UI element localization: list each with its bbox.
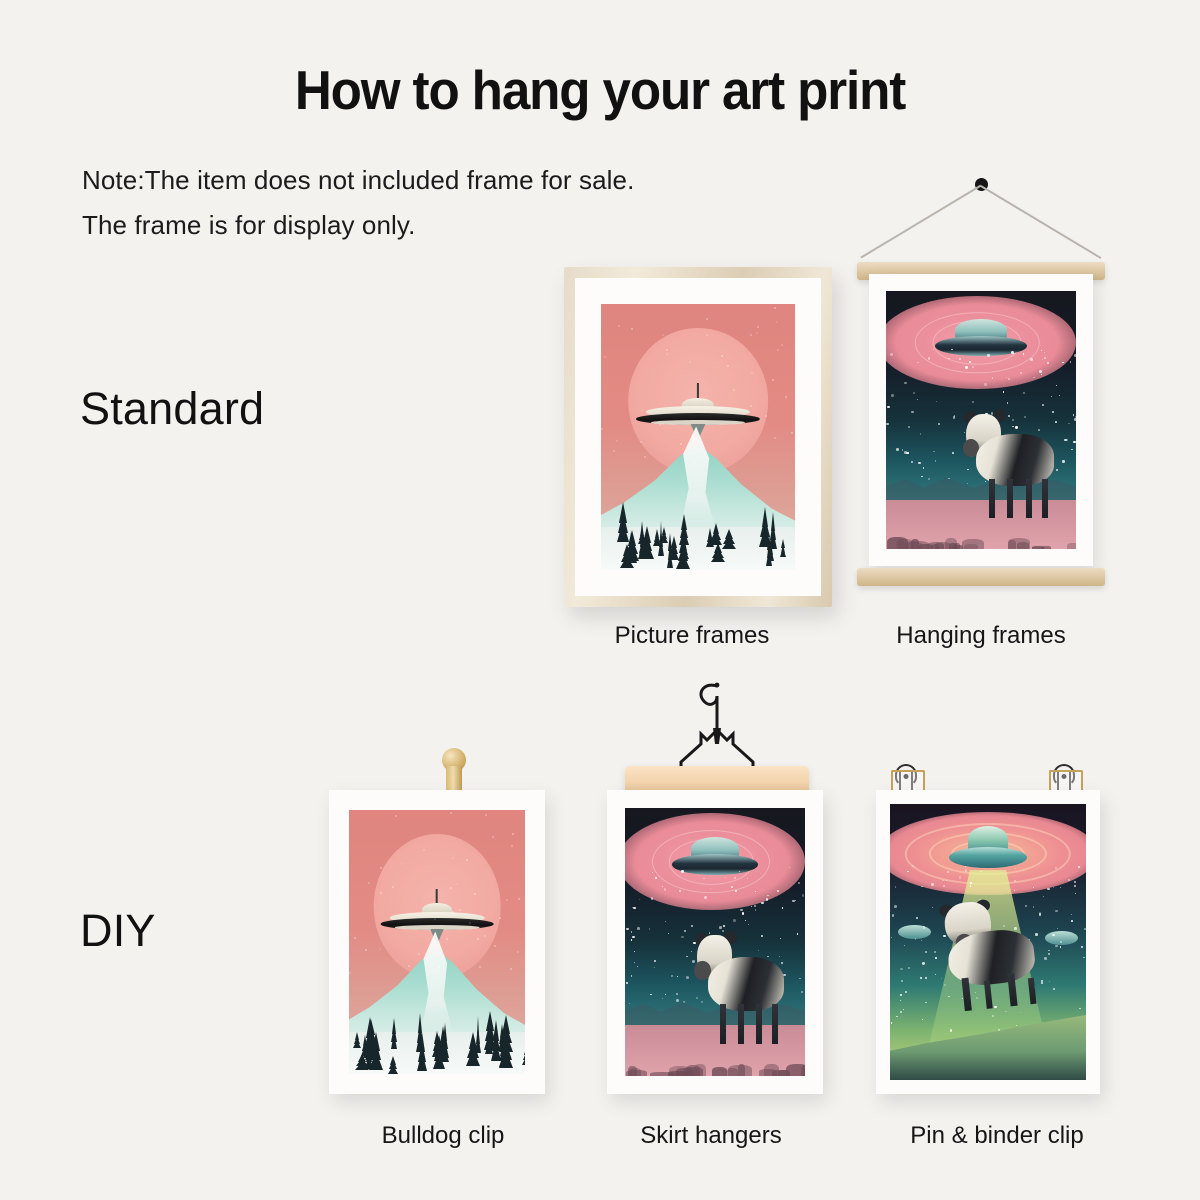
cow-leg [720, 1004, 726, 1044]
star [755, 909, 757, 911]
ground-rock [918, 544, 933, 549]
sky-speck [781, 344, 783, 346]
star [921, 476, 923, 478]
ground-rock [1032, 546, 1044, 549]
star [1074, 881, 1076, 883]
star [631, 939, 633, 941]
sky-speck [506, 899, 508, 901]
star [903, 1009, 904, 1010]
star [665, 921, 666, 922]
hanging-cord-left [861, 185, 982, 258]
skirt-hanger-icon[interactable] [625, 678, 809, 796]
ufo-saucer-icon [381, 900, 494, 940]
star [901, 980, 904, 983]
cow-leg [772, 1004, 778, 1044]
sky-speck [785, 396, 787, 398]
star [1055, 867, 1057, 869]
sky-speck [774, 307, 776, 309]
poster-sheet [869, 274, 1093, 566]
cow-leg [1026, 479, 1032, 518]
hanging-frame-mount[interactable] [855, 178, 1107, 586]
ground-rock [1008, 540, 1016, 550]
star [946, 880, 947, 881]
star [1005, 1011, 1007, 1013]
star [651, 897, 654, 900]
sky-speck [765, 415, 767, 417]
star [671, 975, 673, 977]
star [992, 377, 994, 379]
caption-pin-binder-clip: Pin & binder clip [910, 1122, 1083, 1150]
star [1048, 950, 1050, 952]
star [892, 914, 894, 916]
star [896, 448, 899, 451]
star [970, 885, 971, 886]
page-title: How to hang your art print [42, 62, 1158, 120]
sky-speck [512, 833, 514, 835]
star [900, 1000, 901, 1001]
star [1053, 988, 1055, 990]
star [936, 401, 937, 402]
star [916, 917, 918, 919]
star [782, 907, 784, 909]
star [735, 890, 737, 892]
star [935, 974, 936, 975]
star [665, 994, 666, 995]
star [703, 878, 705, 880]
star [747, 878, 748, 879]
section-label-standard: Standard [80, 383, 264, 435]
artwork-ufo-mountain-1 [601, 304, 795, 570]
star [1006, 377, 1007, 378]
star [887, 406, 889, 408]
star [921, 940, 922, 941]
star [907, 871, 908, 872]
star [987, 354, 989, 356]
sky-speck [349, 972, 351, 974]
star [959, 876, 962, 879]
star [902, 449, 904, 451]
sky-speck [474, 893, 476, 895]
clip-neck [446, 766, 462, 792]
star [948, 358, 950, 360]
star [634, 951, 635, 952]
star [1055, 945, 1057, 947]
star [626, 982, 628, 984]
star [1053, 887, 1054, 888]
star [1056, 385, 1057, 386]
ufo-saucer-icon [636, 394, 760, 434]
star [925, 1002, 927, 1004]
star [900, 994, 902, 996]
star [1079, 1008, 1081, 1010]
disclaimer-note: Note:The item does not included frame fo… [82, 158, 634, 247]
star [1073, 414, 1074, 415]
star [740, 909, 742, 911]
cow-leg [1042, 479, 1048, 518]
star [1033, 887, 1034, 888]
star [676, 993, 678, 995]
star [1068, 423, 1069, 424]
pine-tree [387, 1056, 398, 1074]
star [676, 999, 679, 1002]
star [639, 899, 640, 900]
star [632, 936, 634, 938]
star [686, 976, 689, 979]
ground-rock [728, 1065, 752, 1076]
star [1039, 370, 1042, 373]
star [634, 962, 635, 963]
star [935, 460, 936, 461]
sky-speck [517, 951, 519, 953]
star [1057, 928, 1058, 929]
star [1041, 374, 1042, 375]
star [1055, 910, 1057, 912]
star [637, 966, 638, 967]
star [951, 349, 953, 351]
star [965, 866, 966, 867]
star [933, 349, 934, 350]
cow-figure [693, 926, 794, 1044]
star [1074, 418, 1076, 421]
star [761, 902, 764, 905]
star [799, 978, 801, 980]
infographic-canvas: How to hang your art print Note:The item… [0, 0, 1200, 1200]
star [923, 467, 925, 469]
star [1075, 416, 1076, 419]
star [1015, 868, 1016, 869]
star [734, 877, 736, 879]
star [1041, 350, 1042, 351]
star [798, 882, 800, 884]
star [915, 938, 916, 939]
sky-speck [368, 882, 370, 884]
sky-speck [727, 365, 729, 367]
star [1003, 391, 1005, 393]
print-sheet-skirt-hanger [607, 790, 823, 1094]
star [1047, 362, 1049, 364]
star [1068, 879, 1070, 881]
star [911, 411, 914, 414]
star [1071, 449, 1072, 450]
star [1060, 887, 1061, 888]
cow-figure [962, 405, 1065, 519]
sky-speck [395, 815, 397, 817]
star [1030, 358, 1032, 360]
star [751, 906, 752, 907]
sky-speck [392, 886, 394, 888]
sky-speck [750, 334, 752, 336]
star [691, 951, 693, 953]
star [1020, 372, 1022, 374]
pine-tree [667, 532, 673, 568]
pine-tree [768, 535, 775, 561]
star [920, 433, 922, 435]
sky-speck [492, 836, 494, 838]
star [631, 931, 632, 932]
sky-speck [756, 332, 758, 334]
star [891, 937, 892, 938]
pine-tree [353, 1031, 361, 1048]
sky-speck [510, 968, 512, 970]
star [710, 888, 711, 889]
sky-speck [616, 440, 618, 442]
ground-rock [686, 1065, 701, 1076]
star [1060, 946, 1062, 948]
star [1033, 377, 1034, 378]
star [767, 895, 768, 896]
star [725, 877, 726, 878]
pine-tree [625, 529, 640, 561]
pine-tree [466, 1032, 480, 1066]
star [922, 1019, 923, 1020]
star [755, 891, 756, 892]
star [1081, 946, 1083, 948]
sky-speck [710, 411, 712, 413]
star [900, 968, 903, 971]
hanging-cord-right [981, 185, 1102, 258]
star [1073, 441, 1076, 444]
star [1078, 866, 1080, 868]
star [905, 991, 907, 993]
star [795, 900, 796, 901]
star [911, 461, 913, 463]
star [652, 872, 653, 873]
sky-speck [613, 450, 615, 452]
star [1047, 888, 1049, 890]
star [925, 951, 927, 953]
star [917, 399, 918, 400]
star [1014, 890, 1015, 891]
star [686, 956, 687, 957]
sky-speck [641, 409, 643, 411]
sky-speck [601, 428, 603, 430]
cow-body [708, 957, 785, 1011]
star [668, 933, 669, 934]
pine-tree [653, 529, 661, 546]
star [654, 967, 655, 968]
star [904, 382, 907, 385]
star [662, 998, 664, 1000]
star [1016, 1025, 1017, 1026]
star [1051, 396, 1052, 397]
star [920, 977, 922, 979]
cow-leg [756, 1004, 762, 1044]
star [992, 1015, 994, 1017]
star [943, 885, 946, 888]
star [954, 415, 955, 416]
star [691, 925, 693, 927]
sky-speck [631, 328, 633, 330]
sky-speck [499, 917, 501, 919]
star [896, 1016, 898, 1018]
ground-rock [628, 1066, 638, 1076]
note-line-1: Note:The item does not included frame fo… [82, 158, 634, 203]
star [1070, 361, 1072, 363]
star [923, 926, 926, 929]
star [931, 883, 933, 885]
star [1023, 353, 1025, 355]
star [952, 452, 954, 454]
sky-speck [757, 326, 759, 328]
sky-speck [379, 948, 381, 950]
pine-tree [416, 1013, 424, 1052]
star [908, 426, 910, 428]
cow-leg [984, 980, 994, 1009]
star [1074, 354, 1076, 357]
caption-hanging-frames: Hanging frames [896, 622, 1065, 650]
star [965, 366, 968, 369]
star [922, 962, 924, 964]
ground-rock [712, 1067, 727, 1076]
sky-speck [477, 938, 479, 940]
star [681, 936, 684, 939]
print-sheet-binder-clip [876, 790, 1100, 1094]
caption-bulldog-clip: Bulldog clip [382, 1122, 505, 1150]
star [972, 366, 974, 368]
star [1014, 880, 1016, 882]
star [1052, 934, 1054, 936]
cow-leg [989, 479, 995, 518]
star [1007, 402, 1008, 403]
caption-skirt-hangers: Skirt hangers [640, 1122, 781, 1150]
sky-speck [644, 456, 646, 458]
sky-speck [518, 898, 520, 900]
star [1075, 893, 1076, 894]
art-cow-under-pink-ufo [886, 291, 1076, 549]
star [1060, 941, 1062, 943]
star [655, 877, 657, 879]
sky-speck [450, 887, 452, 889]
star [789, 867, 790, 868]
star [633, 907, 636, 910]
star [649, 928, 650, 929]
star [801, 991, 803, 993]
pine-tree [706, 527, 715, 547]
star [1083, 957, 1085, 959]
sky-speck [680, 443, 682, 445]
art-ufo-over-snowy-mountain [349, 810, 525, 1074]
star [972, 401, 975, 404]
star [969, 361, 971, 363]
sky-speck [511, 845, 513, 847]
caption-picture-frames: Picture frames [615, 622, 770, 650]
sky-speck [618, 325, 620, 327]
art-cow-abduction-beam [890, 804, 1086, 1080]
pine-tree [432, 1035, 445, 1070]
sky-speck [354, 937, 356, 939]
sky-speck [777, 349, 779, 351]
star [921, 886, 922, 887]
star [733, 919, 736, 922]
star [947, 871, 949, 873]
ground-rock [1067, 543, 1076, 549]
pine-tree [681, 542, 689, 560]
star [704, 896, 707, 899]
star [677, 976, 678, 977]
star [913, 392, 915, 394]
star [917, 362, 918, 363]
star [894, 905, 897, 908]
star [802, 894, 805, 897]
star [908, 967, 910, 969]
star [980, 871, 982, 873]
pine-tree [523, 1044, 525, 1065]
star [890, 353, 893, 356]
ground-rock [804, 1066, 805, 1076]
star [739, 871, 740, 872]
star [950, 1029, 952, 1031]
ground-rock [650, 1072, 675, 1076]
star [1084, 928, 1086, 930]
star [1071, 914, 1072, 915]
art-cow-under-pink-ufo [625, 808, 805, 1076]
sky-speck [772, 379, 774, 381]
sky-speck [706, 318, 708, 320]
sky-speck [791, 432, 793, 434]
ground-rock [778, 1070, 789, 1076]
sky-speck [452, 911, 454, 913]
star [1020, 1012, 1022, 1014]
cow-leg [1028, 977, 1037, 1004]
star [731, 886, 733, 888]
sky-speck [485, 814, 487, 816]
pine-tree [354, 1053, 369, 1070]
pine-tree [391, 1018, 398, 1049]
picture-frame-mount[interactable] [564, 267, 832, 607]
cow-figure [932, 892, 1053, 1013]
star [631, 975, 632, 976]
star [797, 933, 799, 935]
section-label-diy: DIY [80, 905, 156, 957]
ufo-mast [436, 889, 438, 903]
ground-rock [949, 543, 957, 549]
star [928, 478, 930, 480]
hanger-rail-bottom[interactable] [857, 568, 1105, 586]
star [891, 1022, 892, 1023]
star [654, 960, 656, 962]
pine-tree [498, 1033, 512, 1068]
star [959, 358, 961, 360]
pine-tree [780, 539, 787, 558]
star [965, 869, 968, 872]
sky-speck [494, 945, 496, 947]
star [928, 357, 930, 359]
star [1043, 896, 1045, 898]
star [766, 898, 769, 901]
star [912, 865, 914, 867]
star [629, 1003, 631, 1005]
frame-mat [575, 278, 821, 596]
star [777, 890, 779, 892]
star [900, 1011, 902, 1013]
star [904, 945, 905, 946]
sky-speck [604, 356, 606, 358]
star [970, 882, 972, 884]
star [742, 912, 745, 915]
star [664, 888, 666, 890]
star [1044, 352, 1045, 353]
sky-speck [750, 405, 752, 407]
star [925, 977, 927, 979]
star [684, 930, 686, 932]
sky-speck [365, 949, 367, 951]
note-line-2: The frame is for display only. [82, 203, 634, 248]
ufo-mast [697, 383, 699, 397]
star [1048, 953, 1050, 955]
sky-speck [450, 812, 452, 814]
pine-tree [483, 1011, 496, 1050]
star [1059, 395, 1060, 396]
